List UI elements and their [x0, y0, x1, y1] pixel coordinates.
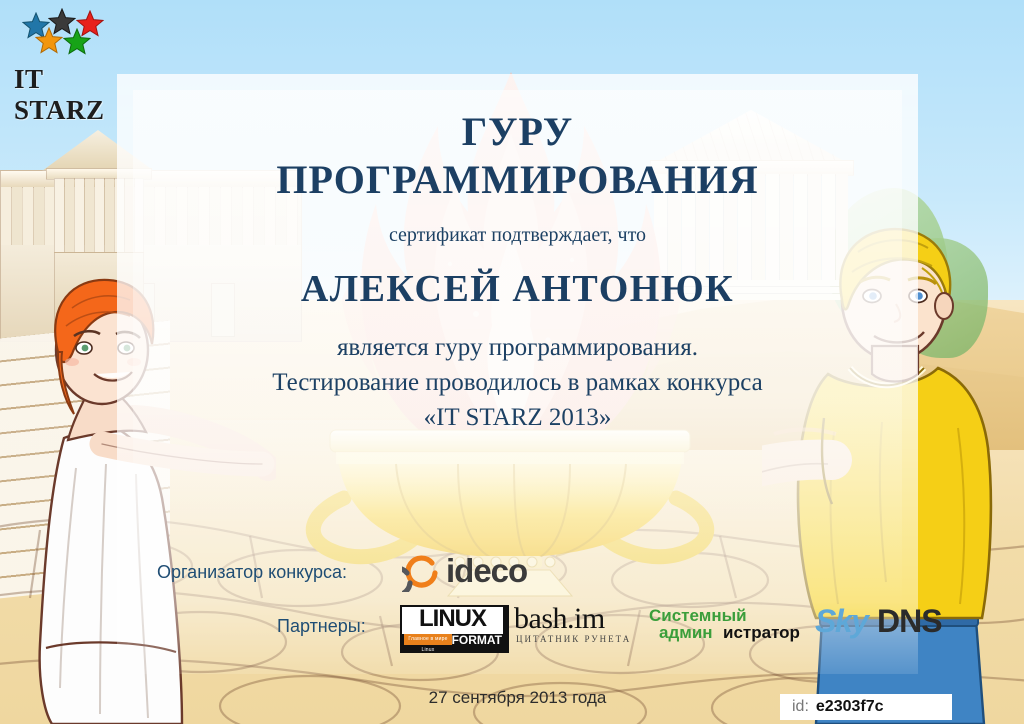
body-line-1: является гуру программирования.	[117, 334, 918, 362]
id-value: e2303f7c	[816, 698, 884, 716]
star-orange-icon	[35, 27, 63, 55]
sistemny-administrator-logo[interactable]: Системный админ истратор	[649, 608, 804, 648]
logo-stars	[8, 8, 112, 54]
id-label: id:	[792, 698, 809, 716]
recipient-name: АЛЕКСЕЙ АНТОНЮК	[117, 267, 918, 311]
certificate-canvas: IT STARZ ГУРУ ПРОГРАММИРОВАНИЯ сертифика…	[0, 0, 1024, 724]
partners-row: Партнеры: LINUX Главное в мире Linux FOR…	[157, 604, 917, 652]
confirm-text: сертификат подтверждает, что	[117, 224, 918, 247]
linux-format-logo[interactable]: LINUX Главное в мире Linux FORMAT	[400, 605, 509, 653]
certificate-id-box: id: e2303f7c	[780, 694, 952, 720]
sysadm-word-3: истратор	[723, 623, 800, 643]
star-green-icon	[63, 28, 91, 56]
sysadm-word-2: админ	[659, 623, 713, 643]
bash-im-logo[interactable]: bash.im ЦИТАТНИК РУНЕТА	[514, 606, 639, 648]
bash-wordmark: bash.im	[514, 602, 605, 636]
partners-label: Партнеры:	[277, 616, 366, 637]
linux-tagline: Главное в мире Linux	[404, 634, 452, 645]
linux-wordmark: LINUX	[402, 605, 503, 633]
organizer-label: Организатор конкурса:	[157, 562, 347, 583]
sky-wordmark: Sky	[815, 603, 867, 640]
logo-wordmark: IT STARZ	[14, 64, 118, 126]
linux-format-bottom: Главное в мире Linux FORMAT	[402, 634, 503, 647]
it-starz-logo[interactable]: IT STARZ	[8, 8, 118, 100]
linux-format-top: LINUX	[402, 607, 503, 634]
title-line-2: ПРОГРАММИРОВАНИЯ	[117, 156, 918, 203]
bash-tagline: ЦИТАТНИК РУНЕТА	[516, 634, 631, 644]
certificate-content: ГУРУ ПРОГРАММИРОВАНИЯ сертификат подтвер…	[117, 74, 918, 674]
body-line-3: «IT STARZ 2013»	[117, 404, 918, 432]
organizer-row: Организатор конкурса: ideco	[157, 552, 657, 598]
ideco-logo[interactable]: ideco	[402, 550, 562, 596]
format-wordmark: FORMAT	[452, 633, 502, 647]
skydns-logo[interactable]: Sky DNS	[815, 603, 940, 647]
title-line-1: ГУРУ	[117, 108, 918, 155]
ideco-swoosh-icon	[402, 554, 440, 592]
ideco-wordmark: ideco	[446, 552, 527, 590]
dns-wordmark: DNS	[877, 603, 942, 640]
body-line-2: Тестирование проводилось в рамках конкур…	[117, 369, 918, 397]
